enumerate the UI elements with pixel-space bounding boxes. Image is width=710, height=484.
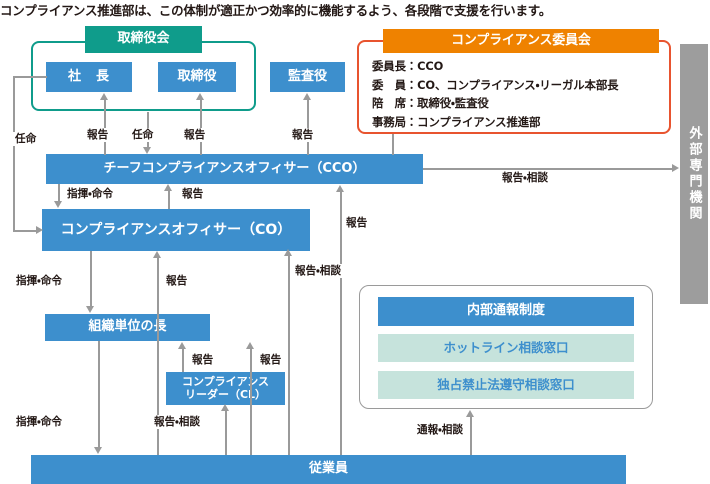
edge-report-cl-to-cco-line (340, 191, 342, 455)
edge-label-command-co-orgunit: 指揮・命令 (14, 274, 64, 288)
edge-label-report-orgunit-co: 報告 (164, 274, 189, 288)
edge-command-co-orgunit-arrowhead (86, 306, 94, 313)
node-cco[interactable]: チーフコンプライアンスオフィサー（CCO） (46, 154, 423, 184)
edge-hotline-to-co-vert (288, 255, 290, 455)
edge-appoint-president-seg-vert (13, 76, 15, 230)
edge-report-cl-orgunit-arrowhead (178, 342, 186, 349)
edge-label-appoint-cco: 任命 (130, 128, 155, 142)
edge-report-employee-chain-arrowhead (246, 342, 254, 349)
node-internal-reporting-title[interactable]: 内部通報制度 (378, 297, 634, 326)
edge-report-consult-employees-cl-line (225, 410, 227, 455)
committee-member-secretariat: 事務局：コンプライアンス推進部 (372, 113, 668, 132)
edge-report-co-cco-line (168, 190, 170, 209)
edge-label-report-to-director: 報告 (182, 128, 207, 142)
edge-report-to-director-arrowhead (196, 93, 204, 100)
edge-command-cco-co-line (58, 184, 60, 202)
node-external-agency[interactable]: 外部専門機関 (680, 44, 708, 304)
node-hotline-desk[interactable]: ホットライン相談窓口 (378, 334, 634, 362)
edge-appoint-president-seg-top (13, 76, 47, 78)
edge-committee-to-cco-line (392, 134, 394, 155)
edge-command-orgunit-employees-line (98, 341, 100, 448)
edge-report-employee-chain-line (250, 348, 252, 455)
page-caption: コンプライアンス推進部は、この体制が適正かつ効率的に機能するよう、各段階で支援を… (0, 0, 710, 22)
edge-hotline-to-co-arrowhead (284, 249, 292, 256)
committee-member-members: 委 員：CO、コンプライアンス・リーガル本部長 (372, 76, 668, 95)
edge-label-report-to-president: 報告 (85, 128, 110, 142)
edge-label-notify-consult: 通報・相談 (415, 423, 465, 437)
edge-command-orgunit-employees-arrowhead (94, 447, 102, 454)
node-president[interactable]: 社 長 (46, 62, 132, 92)
committee-member-observers: 陪 席：取締役・監査役 (372, 94, 668, 113)
edge-appoint-cco-arrowhead (143, 147, 151, 154)
edge-label-report-co-cco: 報告 (180, 187, 205, 201)
edge-label-report-employee-chain: 報告 (258, 353, 283, 367)
edge-notify-consult-line (470, 416, 472, 455)
node-antitrust-desk[interactable]: 独占禁止法遵守相談窓口 (378, 371, 634, 399)
edge-report-to-auditor-arrowhead (303, 93, 311, 100)
node-co[interactable]: コンプライアンスオフィサー（CO） (42, 209, 310, 251)
compliance-committee-member-list: 委員長：CCO 委 員：CO、コンプライアンス・リーガル本部長 陪 席：取締役・… (372, 57, 668, 133)
edge-report-to-auditor-line (307, 99, 309, 155)
node-board-of-directors[interactable]: 取締役会 (85, 26, 202, 53)
edge-label-command-cco-co: 指揮・命令 (65, 187, 115, 201)
edge-appoint-president-arrowhead (36, 226, 43, 234)
edge-command-co-orgunit-line (90, 251, 92, 307)
edge-report-cl-to-cco-arrowhead (336, 185, 344, 192)
edge-report-consult-employees-cl-arrowhead (221, 404, 229, 411)
edge-report-to-president-line (104, 99, 106, 155)
node-compliance-committee-title[interactable]: コンプライアンス委員会 (383, 29, 659, 53)
edge-report-orgunit-co-arrowhead (153, 251, 161, 258)
edge-report-consult-external-line (423, 168, 673, 170)
edge-report-consult-external-arrowhead (672, 164, 679, 172)
edge-report-to-president-arrowhead (100, 93, 108, 100)
compliance-leader-line-2: リーダー（CL） (185, 389, 266, 402)
edge-appoint-president-seg-bottom (13, 230, 37, 232)
compliance-leader-line-1: コンプライアンス (182, 376, 269, 389)
edge-label-report-consult-employees-cl: 報告・相談 (152, 415, 202, 429)
committee-member-chair: 委員長：CCO (372, 57, 668, 76)
edge-report-cl-orgunit-line (182, 348, 184, 372)
edge-notify-consult-arrowhead (466, 410, 474, 417)
edge-label-hotline-to-co: 報告・相談 (293, 264, 343, 278)
node-auditor[interactable]: 監査役 (270, 62, 345, 92)
edge-report-co-cco-arrowhead (164, 184, 172, 191)
node-compliance-leader[interactable]: コンプライアンス リーダー（CL） (166, 372, 285, 405)
edge-label-report-cl-to-cco: 報告 (344, 216, 369, 230)
node-director[interactable]: 取締役 (158, 62, 236, 92)
edge-label-appoint-president: 任命 (13, 132, 38, 146)
edge-report-to-director-line (200, 99, 202, 155)
edge-label-command-orgunit-employees: 指揮・命令 (14, 415, 64, 429)
edge-label-report-cl-orgunit: 報告 (190, 353, 215, 367)
edge-label-report-consult-external: 報告・相談 (500, 171, 550, 185)
edge-command-cco-co-arrowhead (54, 201, 62, 208)
compliance-structure-diagram: コンプライアンス推進部は、この体制が適正かつ効率的に機能するよう、各段階で支援を… (0, 0, 710, 484)
node-org-unit-head[interactable]: 組織単位の長 (45, 314, 210, 341)
node-employees[interactable]: 従業員 (31, 455, 626, 484)
edge-label-report-to-auditor: 報告 (290, 128, 315, 142)
